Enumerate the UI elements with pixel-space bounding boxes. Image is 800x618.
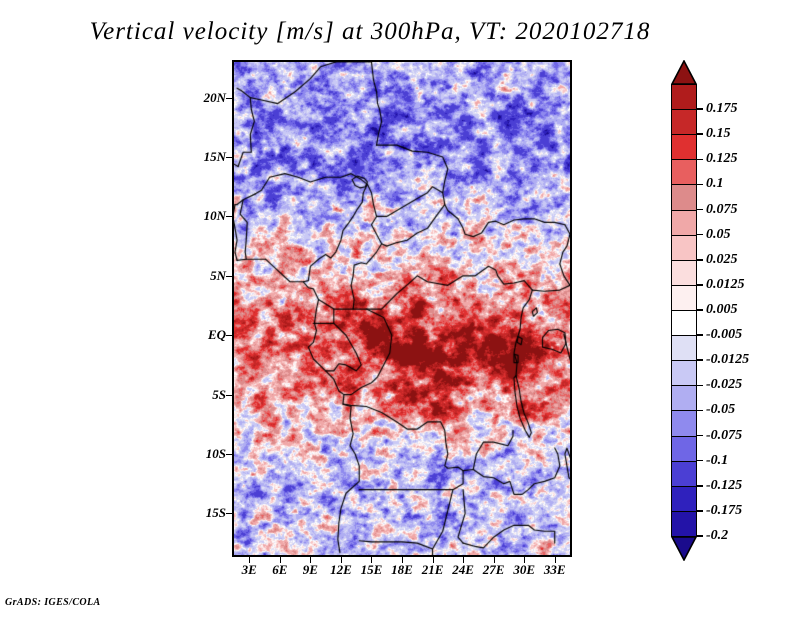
lat-tick-label: 10N	[204, 208, 226, 224]
colorbar-band	[671, 335, 697, 362]
colorbar-band	[671, 511, 697, 538]
lat-tick-label: 10S	[206, 446, 226, 462]
colorbar-band	[671, 461, 697, 488]
lon-tick-mark	[433, 557, 434, 563]
lon-tick-label: 3E	[242, 562, 257, 578]
vertical-velocity-heatmap	[234, 62, 570, 555]
lon-tick-mark	[249, 557, 250, 563]
lon-tick-mark	[555, 557, 556, 563]
lon-tick-label: 27E	[483, 562, 505, 578]
colorbar-tick-mark	[697, 234, 703, 236]
lat-tick-mark	[226, 513, 232, 514]
lon-tick-mark	[341, 557, 342, 563]
footer-credit: GrADS: IGES/COLA	[5, 597, 101, 608]
colorbar-tick-label: -0.005	[706, 327, 742, 343]
lon-tick-label: 15E	[361, 562, 383, 578]
colorbar-tick-label: 0.075	[706, 202, 738, 218]
colorbar-tick-mark	[697, 159, 703, 161]
colorbar-band	[671, 184, 697, 211]
colorbar-min-arrow	[671, 536, 697, 560]
colorbar-tick-label: 0.025	[706, 252, 738, 268]
colorbar-tick-label: 0.005	[706, 302, 738, 318]
colorbar-tick-mark	[697, 108, 703, 110]
colorbar-band	[671, 360, 697, 387]
colorbar-tick-label: 0.1	[706, 176, 724, 192]
lat-tick-mark	[226, 335, 232, 336]
colorbar-tick-label: 0.125	[706, 151, 738, 167]
lat-tick-mark	[226, 276, 232, 277]
colorbar-tick-mark	[697, 385, 703, 387]
lat-tick-mark	[226, 454, 232, 455]
lat-tick-label: 5S	[212, 387, 226, 403]
colorbar-band	[671, 310, 697, 337]
colorbar-band	[671, 210, 697, 237]
colorbar-band	[671, 109, 697, 136]
colorbar-tick-mark	[697, 359, 703, 361]
lon-tick-label: 24E	[452, 562, 474, 578]
colorbar-tick-mark	[697, 209, 703, 211]
page-title: Vertical velocity [m/s] at 300hPa, VT: 2…	[0, 18, 740, 46]
colorbar-band	[671, 260, 697, 287]
map-plot-area	[232, 60, 572, 557]
lat-tick-mark	[226, 157, 232, 158]
colorbar-tick-label: -0.05	[706, 402, 735, 418]
colorbar-tick-mark	[697, 259, 703, 261]
lat-tick-label: 20N	[204, 90, 226, 106]
colorbar-tick-label: -0.1	[706, 453, 728, 469]
colorbar-tick-label: 0.15	[706, 126, 731, 142]
colorbar-tick-mark	[697, 133, 703, 135]
lon-tick-label: 9E	[303, 562, 318, 578]
lon-tick-mark	[494, 557, 495, 563]
lon-tick-mark	[463, 557, 464, 563]
grads-plot-window: Vertical velocity [m/s] at 300hPa, VT: 2…	[0, 0, 800, 618]
lon-tick-label: 33E	[544, 562, 566, 578]
colorbar-tick-mark	[697, 485, 703, 487]
lon-tick-mark	[402, 557, 403, 563]
colorbar-tick-mark	[697, 184, 703, 186]
lon-tick-mark	[371, 557, 372, 563]
lon-tick-mark	[310, 557, 311, 563]
latitude-axis: 20N15N10N5NEQ5S10S15S	[186, 60, 226, 557]
lat-tick-mark	[226, 395, 232, 396]
colorbar-band	[671, 285, 697, 312]
colorbar-tick-label: -0.2	[706, 528, 728, 544]
colorbar-band	[671, 410, 697, 437]
colorbar-tick-label: 0.05	[706, 227, 731, 243]
lat-tick-mark	[226, 98, 232, 99]
lon-tick-mark	[280, 557, 281, 563]
colorbar-tick-mark	[697, 535, 703, 537]
colorbar-tick-mark	[697, 460, 703, 462]
lon-tick-label: 21E	[422, 562, 444, 578]
colorbar-band	[671, 486, 697, 513]
colorbar-tick-mark	[697, 334, 703, 336]
colorbar-tick-label: 0.175	[706, 101, 738, 117]
colorbar-band	[671, 134, 697, 161]
colorbar-band	[671, 235, 697, 262]
colorbar-band	[671, 84, 697, 111]
lat-tick-label: 5N	[210, 268, 226, 284]
lat-tick-label: 15S	[206, 505, 226, 521]
colorbar-tick-label: -0.0125	[706, 352, 749, 368]
colorbar-tick-label: -0.075	[706, 428, 742, 444]
lon-tick-label: 30E	[513, 562, 535, 578]
colorbar-tick-label: -0.025	[706, 377, 742, 393]
colorbar-tick-mark	[697, 309, 703, 311]
lon-tick-label: 6E	[272, 562, 287, 578]
lat-tick-mark	[226, 216, 232, 217]
longitude-axis: 3E6E9E12E15E18E21E24E27E30E33E	[232, 562, 572, 582]
colorbar-tick-label: -0.125	[706, 478, 742, 494]
colorbar-band	[671, 436, 697, 463]
colorbar-tick-label: -0.175	[706, 503, 742, 519]
colorbar-max-arrow	[671, 60, 697, 84]
lat-tick-label: EQ	[208, 327, 226, 343]
colorbar-tick-mark	[697, 435, 703, 437]
lon-tick-mark	[524, 557, 525, 563]
colorbar-band	[671, 159, 697, 186]
colorbar-tick-mark	[697, 284, 703, 286]
colorbar-band	[671, 385, 697, 412]
lon-tick-label: 18E	[391, 562, 413, 578]
lat-tick-label: 15N	[204, 149, 226, 165]
colorbar-tick-mark	[697, 510, 703, 512]
colorbar: 0.1750.150.1250.10.0750.050.0250.01250.0…	[671, 60, 697, 560]
lon-tick-label: 12E	[330, 562, 352, 578]
colorbar-tick-mark	[697, 410, 703, 412]
colorbar-tick-label: 0.0125	[706, 277, 745, 293]
